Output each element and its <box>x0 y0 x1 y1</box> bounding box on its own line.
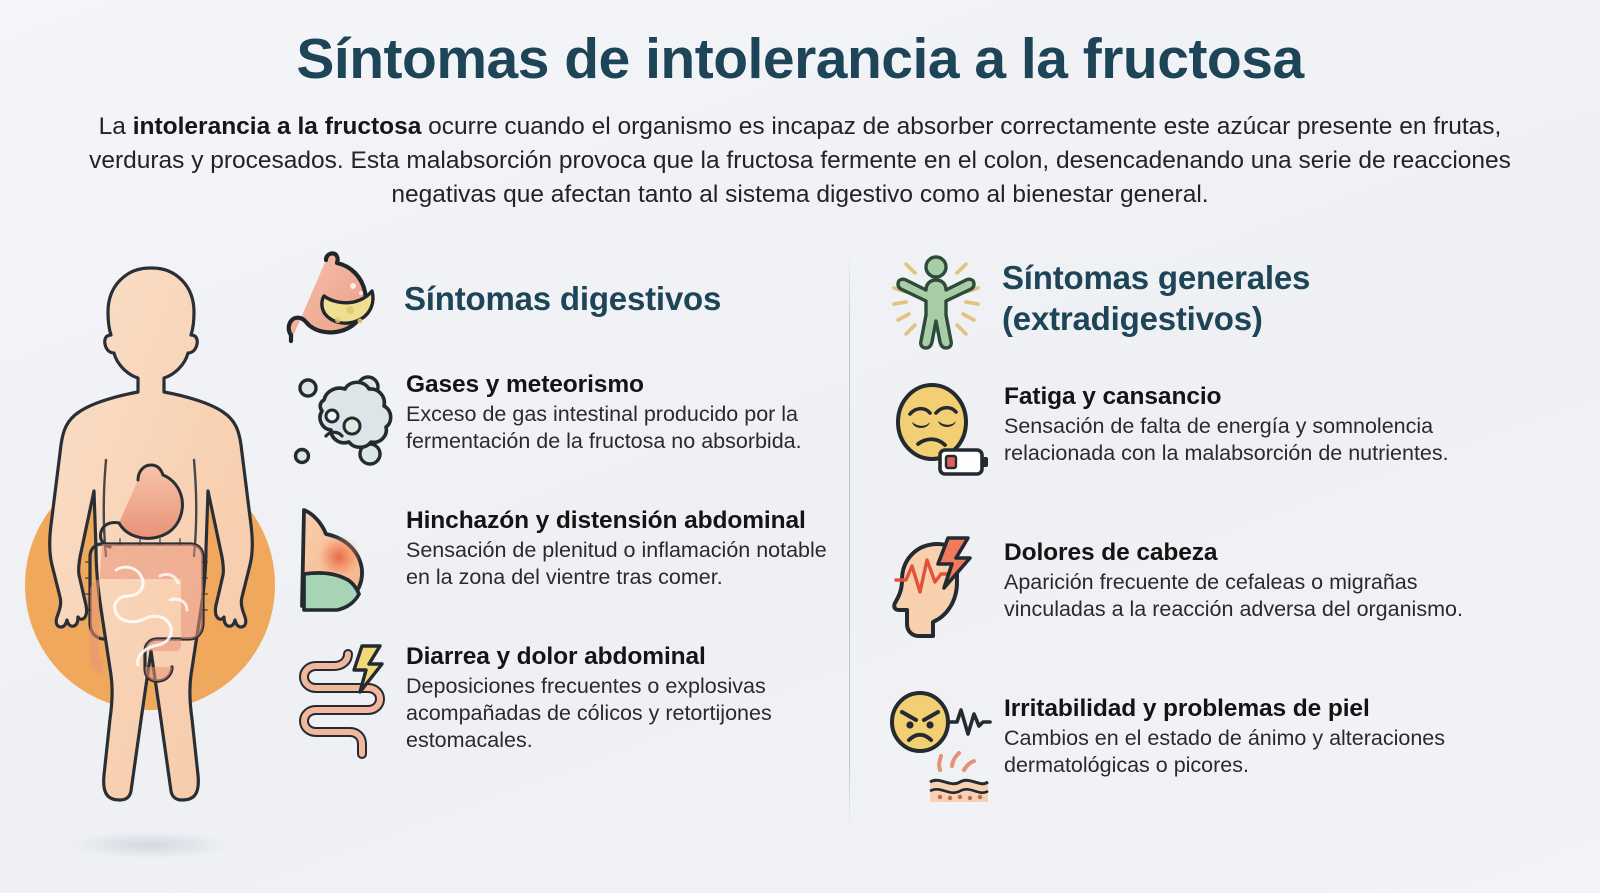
symptom-title: Dolores de cabeza <box>1004 538 1508 567</box>
skin-layers <box>930 780 988 802</box>
digestive-column-header: Síntomas digestivos <box>290 248 835 348</box>
angry-face-skin-icon <box>888 690 988 794</box>
symptom-item: Diarrea y dolor abdominal Deposiciones f… <box>290 638 835 754</box>
human-body-svg <box>10 250 290 860</box>
symptom-description: Sensación de plenitud o inflamación nota… <box>406 537 835 591</box>
symptom-title: Hinchazón y distensión abdominal <box>406 506 835 535</box>
symptom-title: Fatiga y cansancio <box>1004 382 1508 411</box>
symptom-title: Diarrea y dolor abdominal <box>406 642 835 671</box>
digestive-symptoms-column: Síntomas digestivos <box>290 248 835 754</box>
intestines-lightning-icon <box>290 638 390 742</box>
bloated-belly-icon <box>290 502 390 606</box>
symptom-text: Hinchazón y distensión abdominal Sensaci… <box>406 502 835 591</box>
symptom-description: Exceso de gas intestinal producido por l… <box>406 401 835 455</box>
tired-face-battery-icon <box>888 378 988 482</box>
symptom-item: Hinchazón y distensión abdominal Sensaci… <box>290 502 835 606</box>
symptom-description: Aparición frecuente de cefaleas o migrañ… <box>1004 569 1508 623</box>
general-column-header: Síntomas generales (extradigestivos) <box>888 248 1508 348</box>
symptom-title: Irritabilidad y problemas de piel <box>1004 694 1508 723</box>
symptom-item: Irritabilidad y problemas de piel Cambio… <box>888 690 1508 794</box>
symptom-item: Fatiga y cansancio Sensación de falta de… <box>888 378 1508 482</box>
general-symptoms-column: Síntomas generales (extradigestivos) F <box>888 248 1508 794</box>
page-title: Síntomas de intolerancia a la fructosa <box>0 26 1600 92</box>
symptom-text: Dolores de cabeza Aparición frecuente de… <box>1004 534 1508 623</box>
gas-cloud-icon <box>290 366 390 470</box>
intro-text-bold: intolerancia a la fructosa <box>133 113 422 140</box>
symptom-text: Diarrea y dolor abdominal Deposiciones f… <box>406 638 835 754</box>
symptom-text: Irritabilidad y problemas de piel Cambio… <box>1004 690 1508 779</box>
column-divider <box>849 252 850 832</box>
head-lightning-icon <box>888 534 988 638</box>
stomach-icon <box>290 248 386 348</box>
itch-squiggles <box>939 753 974 770</box>
human-body-illustration <box>10 250 290 860</box>
symptom-description: Deposiciones frecuentes o explosivas aco… <box>406 673 835 754</box>
symptom-item: Gases y meteorismo Exceso de gas intesti… <box>290 366 835 470</box>
person-radiating-icon <box>888 248 984 348</box>
symptom-text: Gases y meteorismo Exceso de gas intesti… <box>406 366 835 455</box>
symptom-title: Gases y meteorismo <box>406 370 835 399</box>
symptom-text: Fatiga y cansancio Sensación de falta de… <box>1004 378 1508 467</box>
general-column-title: Síntomas generales (extradigestivos) <box>1002 257 1508 339</box>
body-shadow <box>68 831 232 859</box>
digestive-column-title: Síntomas digestivos <box>404 278 721 319</box>
symptom-description: Sensación de falta de energía y somnolen… <box>1004 413 1508 467</box>
symptom-item: Dolores de cabeza Aparición frecuente de… <box>888 534 1508 638</box>
intro-paragraph: La intolerancia a la fructosa ocurre cua… <box>60 110 1540 212</box>
intro-text-pre: La <box>99 113 133 140</box>
symptom-description: Cambios en el estado de ánimo y alteraci… <box>1004 725 1508 779</box>
infographic-page: Síntomas de intolerancia a la fructosa L… <box>0 0 1600 893</box>
